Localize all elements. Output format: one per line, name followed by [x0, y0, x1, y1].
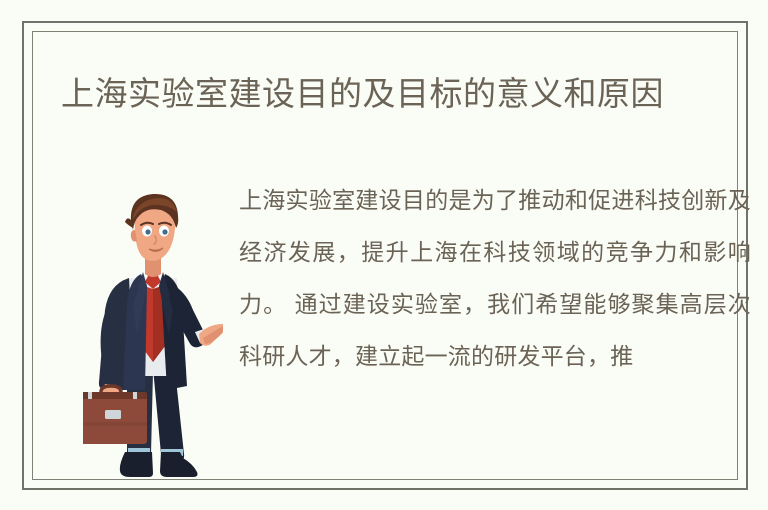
businessman-illustration	[83, 186, 223, 486]
article-card-page: 上海实验室建设目的及目标的意义和原因	[0, 0, 768, 510]
outer-frame-border: 上海实验室建设目的及目标的意义和原因	[22, 21, 748, 490]
page-title: 上海实验室建设目的及目标的意义和原因	[61, 70, 721, 118]
inner-frame-border: 上海实验室建设目的及目标的意义和原因	[32, 31, 738, 480]
article-paragraph: 上海实验室建设目的是为了推动和促进科技创新及经济发展，提升上海在科技领域的竞争力…	[239, 174, 751, 382]
article-body-region: 上海实验室建设目的是为了推动和促进科技创新及经济发展，提升上海在科技领域的竞争力…	[33, 168, 737, 479]
article-content: 上海实验室建设目的及目标的意义和原因	[33, 32, 737, 479]
